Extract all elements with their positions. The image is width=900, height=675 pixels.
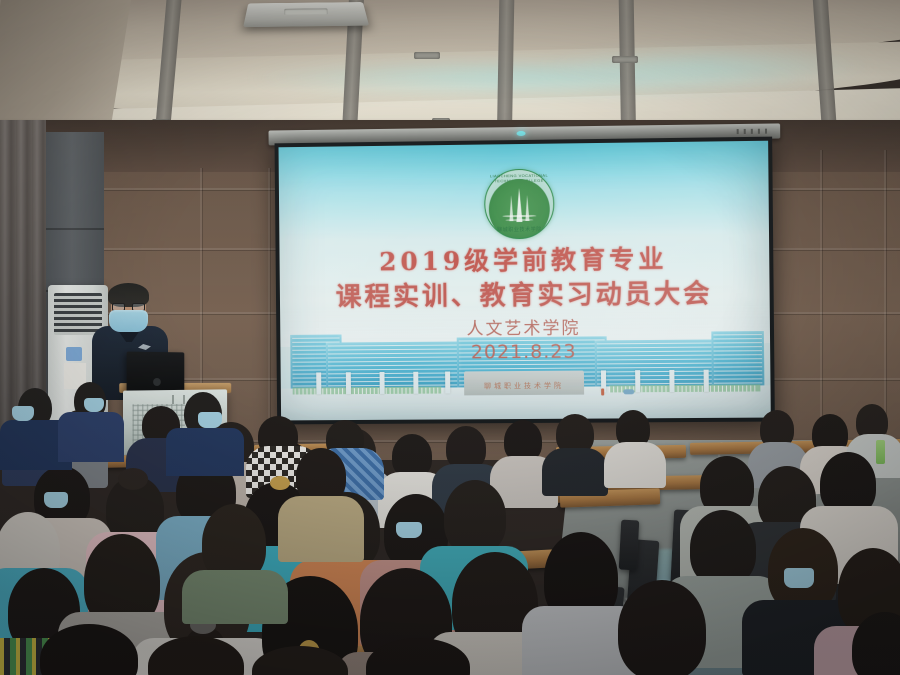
logo-disc [494,179,544,230]
seat-back [619,520,640,571]
audience-head [690,510,756,586]
hair-clip [270,476,290,490]
face-mask [784,568,814,588]
lecture-hall-photo: 聊城职业技术学院 LIAOCHENG VOCATIONAL TECHNICAL … [0,0,900,675]
logo-ring-text-cn: 聊城职业技术学院 [486,226,554,234]
audience-body [542,448,608,496]
face-mask [44,492,68,508]
staff-body [166,428,244,476]
audience-head [444,480,506,554]
ceiling-vent-icon [612,56,638,63]
face-mask [396,522,422,538]
water-bottle [876,440,885,464]
face-mask [198,412,222,428]
presenter-face-mask [109,310,148,332]
campus-column [704,370,709,392]
screen-frame: 聊城职业技术学院 LIAOCHENG VOCATIONAL TECHNICAL … [275,137,775,425]
face-mask [12,406,34,421]
campus-column [413,372,418,394]
campus-pedestrian [601,388,604,395]
audience-body [604,442,666,488]
campus-column [346,372,351,394]
ac-badge [66,347,82,361]
slide-title-line-2: 课程实训、教育实习动员大会 [280,273,770,315]
logo-spire-right-icon [525,195,529,221]
campus-column [316,372,321,394]
audience-body [278,496,364,562]
slide-subtitle: 人文艺术学院 [280,312,770,341]
screen-housing-detail [737,129,771,135]
slide-surface: 聊城职业技术学院 LIAOCHENG VOCATIONAL TECHNICAL … [279,141,771,421]
logo-spire-left-icon [509,195,513,221]
staff-body [58,412,124,462]
campus-column [380,372,385,394]
pillar-seam [46,228,104,230]
screen-power-led-icon [517,131,526,136]
logo-wave-icon [502,215,536,217]
campus-gate-text: 聊城职业技术学院 [467,381,581,392]
campus-column [445,372,450,394]
podium-laptop [127,352,185,395]
laptop-logo-icon [153,378,161,386]
audience [0,400,900,675]
campus-column [669,370,674,392]
slide-date: 2021.8.23 [280,339,770,365]
campus-column [635,370,640,392]
campus-car [623,389,634,394]
audience-head [618,580,706,675]
hair-bun [118,468,148,490]
projection-screen: 聊城职业技术学院 LIAOCHENG VOCATIONAL TECHNICAL … [275,137,775,427]
college-logo: LIAOCHENG VOCATIONAL TECHNICAL COLLEGE 聊… [484,169,555,240]
ceiling-projector [243,2,369,27]
ceiling-vent-icon [414,52,440,59]
face-mask [84,398,104,412]
audience-body [182,570,288,624]
